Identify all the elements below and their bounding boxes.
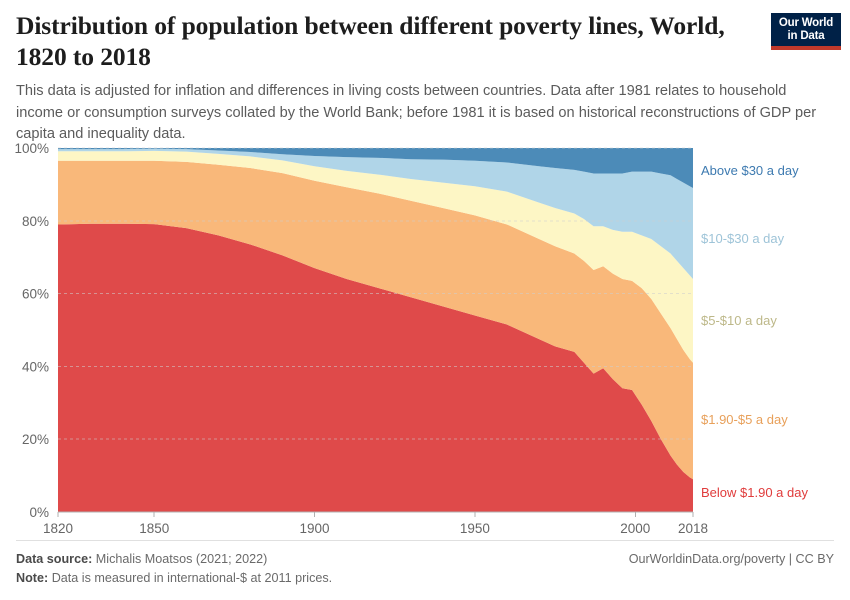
footer-source-value: Michalis Moatsos (2021; 2022) bbox=[96, 552, 268, 566]
owid-logo-line2: in Data bbox=[774, 30, 838, 43]
owid-logo[interactable]: Our World in Data bbox=[771, 13, 841, 50]
x-axis-tick-label: 1850 bbox=[139, 521, 169, 536]
series-label-1-90-5-a-day[interactable]: $1.90-$5 a day bbox=[701, 412, 788, 427]
footer-attribution[interactable]: OurWorldinData.org/poverty | CC BY bbox=[629, 550, 834, 569]
chart-subtitle: This data is adjusted for inflation and … bbox=[16, 81, 826, 146]
footer-note-row: Note: Data is measured in international-… bbox=[16, 569, 834, 588]
footer-source-row: Data source: Michalis Moatsos (2021; 202… bbox=[16, 550, 834, 569]
x-axis-tick-label: 1820 bbox=[43, 521, 73, 536]
y-axis-tick-label: 80% bbox=[22, 214, 49, 229]
chart-area: 0%20%40%60%80%100%1820185019001950200020… bbox=[0, 138, 850, 536]
x-axis-tick-label: 1950 bbox=[460, 521, 490, 536]
series-label-5-10-a-day[interactable]: $5-$10 a day bbox=[701, 313, 777, 328]
y-axis-tick-label: 100% bbox=[14, 141, 49, 156]
series-label-10-30-a-day[interactable]: $10-$30 a day bbox=[701, 231, 785, 246]
y-axis-tick-label: 20% bbox=[22, 432, 49, 447]
x-axis-tick-label: 2018 bbox=[678, 521, 708, 536]
y-axis-tick-label: 0% bbox=[29, 505, 49, 520]
chart-footer: Data source: Michalis Moatsos (2021; 202… bbox=[16, 540, 834, 588]
footer-note-value: Data is measured in international-$ at 2… bbox=[52, 571, 332, 585]
chart-page: Distribution of population between diffe… bbox=[0, 0, 850, 600]
series-label-above-30-a-day[interactable]: Above $30 a day bbox=[701, 163, 799, 178]
footer-source-label: Data source: bbox=[16, 552, 92, 566]
x-axis-tick-label: 2000 bbox=[620, 521, 650, 536]
stacked-area-chart[interactable]: 0%20%40%60%80%100%1820185019001950200020… bbox=[0, 138, 850, 536]
y-axis-tick-label: 60% bbox=[22, 287, 49, 302]
chart-header: Distribution of population between diffe… bbox=[16, 10, 834, 146]
series-label-below-1-90-a-day[interactable]: Below $1.90 a day bbox=[701, 485, 808, 500]
page-title: Distribution of population between diffe… bbox=[16, 10, 731, 72]
x-axis-tick-label: 1900 bbox=[300, 521, 330, 536]
owid-logo-line1: Our World bbox=[774, 17, 838, 30]
footer-note-label: Note: bbox=[16, 571, 48, 585]
y-axis-tick-label: 40% bbox=[22, 359, 49, 374]
